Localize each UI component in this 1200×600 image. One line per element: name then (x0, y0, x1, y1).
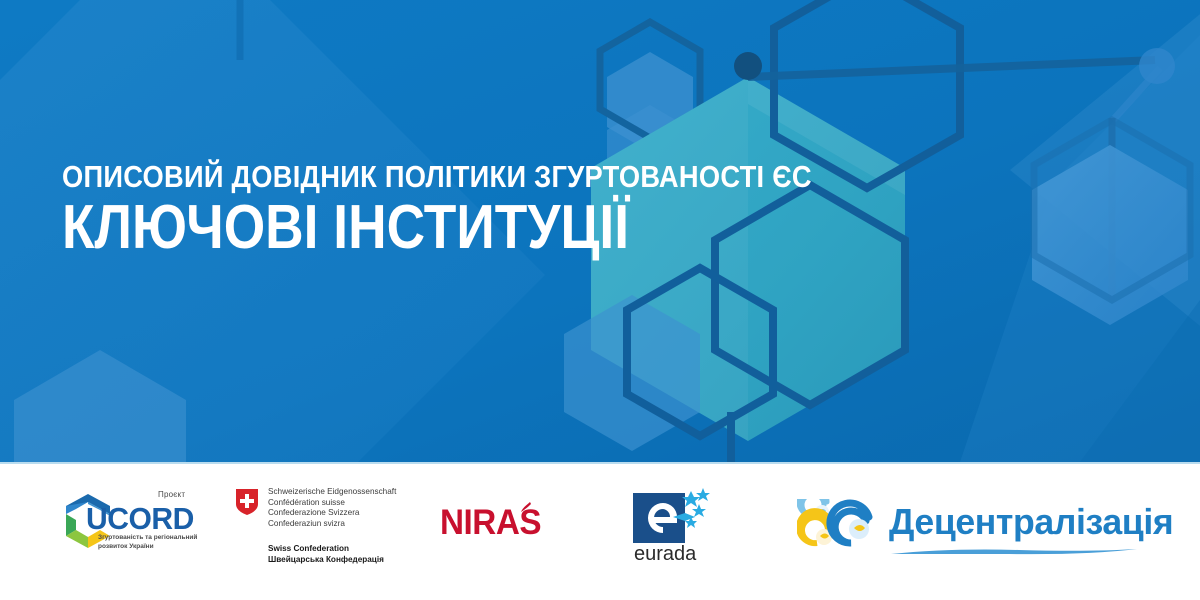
swiss-language-lines: Schweizerische Eidgenossenschaft Confédé… (268, 487, 396, 529)
logo-swiss-confederation[interactable]: Schweizerische Eidgenossenschaft Confédé… (236, 487, 416, 562)
niras-flame-icon (518, 501, 534, 517)
swiss-name-en: Swiss Confederation (268, 543, 384, 554)
poster-page: ОПИСОВИЙ ДОВІДНИК ПОЛІТИКИ ЗГУРТОВАНОСТІ… (0, 0, 1200, 600)
decentralization-wordmark: Децентралізація (889, 501, 1173, 543)
hero-main-title: КЛЮЧОВІ ІНСТИТУЦІЇ (62, 194, 795, 262)
niras-wordmark: NIRAS (440, 505, 564, 541)
partner-logos: Проєкт UCORD Згуртованість та регіональн… (0, 0, 1200, 138)
logo-niras[interactable]: NIRAS (440, 505, 570, 545)
ucord-tagline: Згуртованість та регіональний розвиток У… (98, 534, 216, 551)
swiss-lang-rm: Confederaziun svizra (268, 519, 396, 530)
hero-subtitle: ОПИСОВИЙ ДОВІДНИК ПОЛІТИКИ ЗГУРТОВАНОСТІ… (62, 160, 812, 194)
decentralization-underline (889, 543, 1139, 551)
logo-decentralization[interactable]: Децентралізація (797, 499, 1147, 557)
ucord-project-label: Проєкт (158, 490, 185, 499)
swiss-bold-lines: Swiss Confederation Швейцарська Конфедер… (268, 543, 384, 565)
footer-divider (0, 462, 1200, 464)
hero-title-block: ОПИСОВИЙ ДОВІДНИК ПОЛІТИКИ ЗГУРТОВАНОСТІ… (62, 160, 914, 262)
swiss-lang-it: Confederazione Svizzera (268, 508, 396, 519)
swiss-cross-shield-icon (236, 489, 258, 515)
decentralization-swirl-icon (797, 499, 892, 551)
swiss-lang-fr: Confédération suisse (268, 498, 396, 509)
logo-eurada[interactable]: eurada (633, 487, 729, 567)
swiss-lang-de: Schweizerische Eidgenossenschaft (268, 487, 396, 498)
logo-ucord[interactable]: Проєкт UCORD Згуртованість та регіональн… (62, 490, 212, 555)
eurada-e-stars-icon (633, 487, 711, 545)
eurada-wordmark: eurada (634, 543, 696, 566)
swiss-name-uk: Швейцарська Конфедерація (268, 554, 384, 565)
ucord-wordmark: UCORD (86, 501, 194, 537)
